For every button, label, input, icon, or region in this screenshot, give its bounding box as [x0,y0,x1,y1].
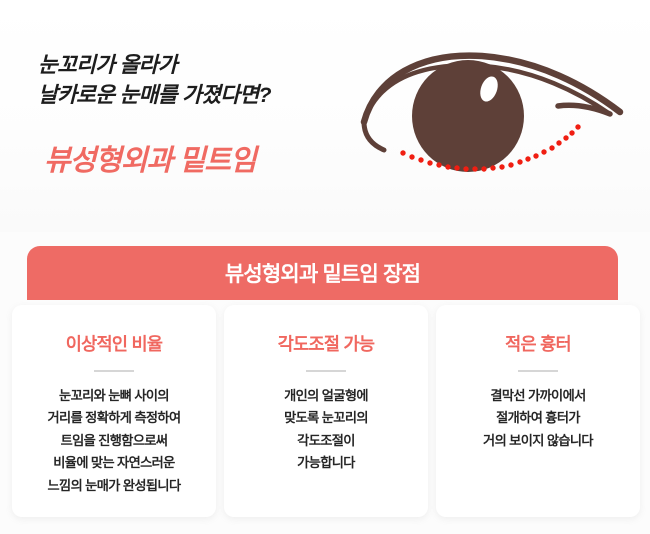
advantages-banner: 뷰성형외과 밑트임 장점 [27,246,618,300]
card-1-body: 눈꼬리와 눈뼈 사이의 거리를 정확하게 측정하여 트임을 진행함으로써 비율에… [40,385,189,498]
card-3-body: 결막선 가까이에서 절개하여 흉터가 거의 보이지 않습니다 [475,385,601,453]
card-3-divider [518,370,558,372]
card-2-body-line-1: 개인의 얼굴형에 [284,385,368,408]
eye-illustration [358,34,642,200]
headline-block: 눈꼬리가 올라가 날카로운 눈매를 가졌다면? [38,50,368,110]
card-1-title: 이상적인 비율 [66,331,163,356]
hero-section: 눈꼬리가 올라가 날카로운 눈매를 가졌다면? 뷰성형외과 밑트임 [0,0,650,232]
card-2-body-line-2: 맞도록 눈꼬리의 [284,407,368,430]
card-2-divider [306,370,346,372]
brand-headline: 뷰성형외과 밑트임 [44,142,256,180]
card-3-title: 적은 흉터 [505,331,571,356]
inner-corner-hook [364,122,384,150]
advantage-card-1: 이상적인 비율 눈꼬리와 눈뼈 사이의 거리를 정확하게 측정하여 트임을 진행… [12,305,216,517]
advantage-card-3: 적은 흉터 결막선 가까이에서 절개하여 흉터가 거의 보이지 않습니다 [436,305,640,517]
card-1-divider [94,370,134,372]
card-2-title: 각도조절 가능 [278,331,375,356]
iris-circle [412,60,524,172]
banner-title: 뷰성형외과 밑트임 장점 [225,258,420,288]
card-2-body-line-3: 각도조절이 [284,430,368,453]
card-2-body-line-4: 가능합니다 [284,452,368,475]
card-1-body-line-3: 트임을 진행함으로써 [48,430,181,453]
card-3-body-line-2: 절개하여 흉터가 [483,407,593,430]
headline-line-2: 날카로운 눈매를 가졌다면? [38,80,368,110]
advantage-card-2: 각도조절 가능 개인의 얼굴형에 맞도록 눈꼬리의 각도조절이 가능합니다 [224,305,428,517]
card-3-body-line-1: 결막선 가까이에서 [483,385,593,408]
card-3-body-line-3: 거의 보이지 않습니다 [483,430,593,453]
advantage-cards: 이상적인 비율 눈꼬리와 눈뼈 사이의 거리를 정확하게 측정하여 트임을 진행… [12,305,640,517]
card-1-body-line-1: 눈꼬리와 눈뼈 사이의 [48,385,181,408]
card-1-body-line-2: 거리를 정확하게 측정하여 [48,407,181,430]
card-2-body: 개인의 얼굴형에 맞도록 눈꼬리의 각도조절이 가능합니다 [276,385,376,475]
headline-line-1: 눈꼬리가 올라가 [38,50,368,80]
infographic-page: 눈꼬리가 올라가 날카로운 눈매를 가졌다면? 뷰성형외과 밑트임 [0,0,650,534]
card-1-body-line-5: 느낌의 눈매가 완성됩니다 [48,475,181,498]
card-1-body-line-4: 비율에 맞는 자연스러운 [48,452,181,475]
